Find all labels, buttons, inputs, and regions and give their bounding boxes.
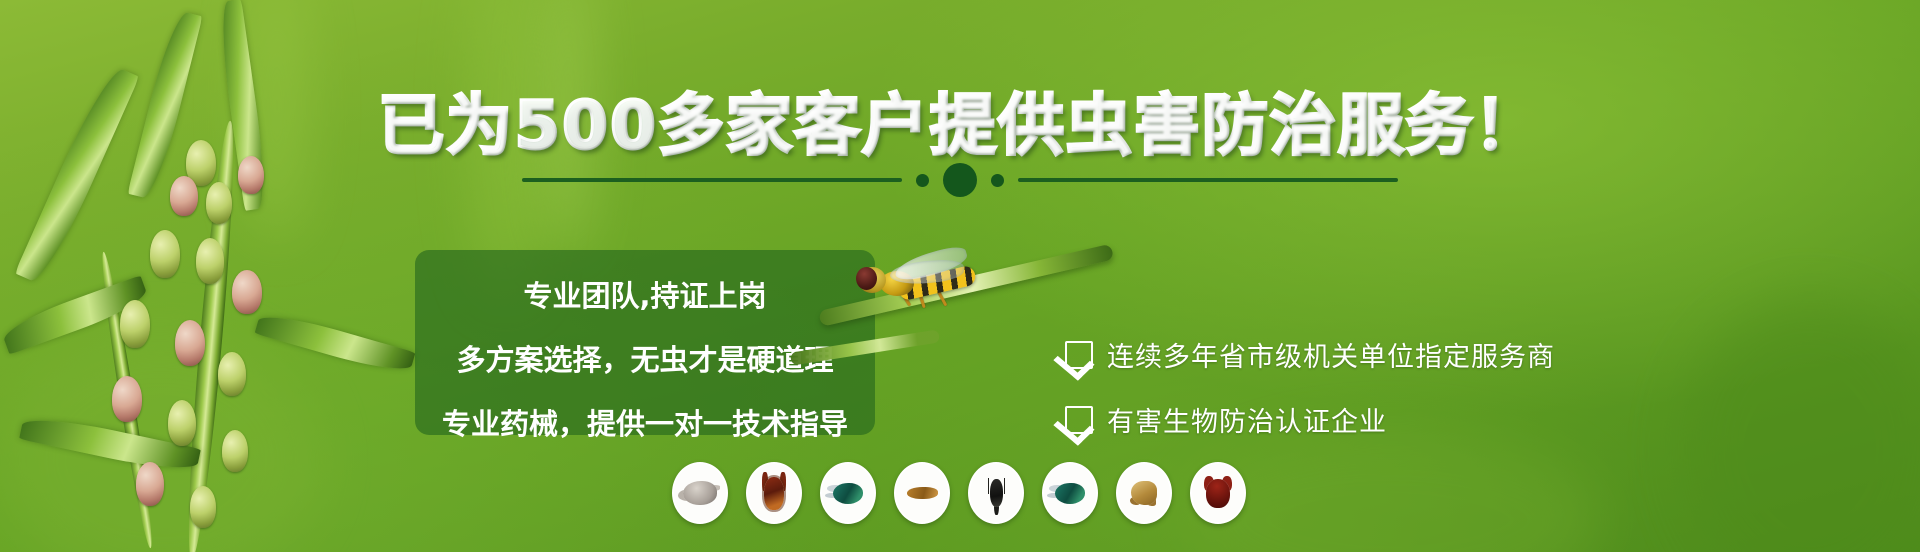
page-title-text: 已为500多家客户提供虫害防治服务！ <box>378 87 1542 164</box>
divider-rule-right <box>1018 178 1398 182</box>
plant-bud-15 <box>190 486 216 528</box>
certification-checklist: 连续多年省市级机关单位指定服务商 有害生物防治认证企业 <box>1065 335 1555 439</box>
cockroach-glyph <box>748 464 800 522</box>
fly-eye <box>856 267 877 290</box>
mouse-glyph <box>674 464 726 522</box>
plant-bud-11 <box>112 376 142 422</box>
plant-bud-12 <box>168 400 196 446</box>
plant-bud-5 <box>150 230 180 278</box>
checkbox-checked-icon <box>1065 406 1093 434</box>
plant-bud-9 <box>175 320 205 366</box>
bedbug-icon[interactable] <box>1190 462 1246 524</box>
feature-panel: 专业团队,持证上岗 多方案选择，无虫才是硬道理 专业药械，提供一对一技术指导 <box>415 250 875 435</box>
hoverfly-icon <box>850 247 980 319</box>
ant-icon[interactable] <box>968 462 1024 524</box>
plant-bud-6 <box>196 238 224 284</box>
ant-glyph <box>970 464 1022 522</box>
fly-glyph <box>822 464 874 522</box>
checkbox-checked-icon <box>1065 341 1093 369</box>
mosquito-glyph <box>896 464 948 522</box>
pest-icon-row <box>672 462 1246 524</box>
divider-dot-small-right <box>991 174 1004 187</box>
plant-leaf-5 <box>255 308 416 377</box>
fly-icon-2[interactable] <box>1042 462 1098 524</box>
plant-bud-14 <box>136 462 164 506</box>
divider-dot-large <box>943 163 977 197</box>
feature-line-3: 专业药械，提供一对一技术指导 <box>415 401 875 443</box>
plant-bud-13 <box>222 430 248 472</box>
bedbug-glyph <box>1192 464 1244 522</box>
flea-glyph <box>1118 464 1170 522</box>
divider-dots <box>916 163 1004 197</box>
mosquito-icon[interactable] <box>894 462 950 524</box>
checklist-item: 连续多年省市级机关单位指定服务商 <box>1065 335 1555 374</box>
divider <box>0 163 1920 197</box>
divider-dot-small-left <box>916 174 929 187</box>
feature-line-1: 专业团队,持证上岗 <box>415 273 875 315</box>
flea-icon[interactable] <box>1116 462 1172 524</box>
cockroach-icon[interactable] <box>746 462 802 524</box>
divider-rule-left <box>522 178 902 182</box>
plant-bud-8 <box>120 300 150 348</box>
fly-glyph-2 <box>1044 464 1096 522</box>
fly-icon[interactable] <box>820 462 876 524</box>
checklist-item-label: 有害生物防治认证企业 <box>1107 400 1387 439</box>
plant-bud-10 <box>218 352 246 396</box>
page-title: 已为500多家客户提供虫害防治服务！ <box>0 72 1920 168</box>
mouse-icon[interactable] <box>672 462 728 524</box>
promo-banner: 已为500多家客户提供虫害防治服务！ 专业团队,持证上岗 多方案选择，无虫才是硬… <box>0 0 1920 552</box>
bokeh-band-4 <box>1680 300 1920 552</box>
plant-bud-7 <box>232 270 262 314</box>
checklist-item-label: 连续多年省市级机关单位指定服务商 <box>1107 335 1555 374</box>
checklist-item: 有害生物防治认证企业 <box>1065 400 1555 439</box>
